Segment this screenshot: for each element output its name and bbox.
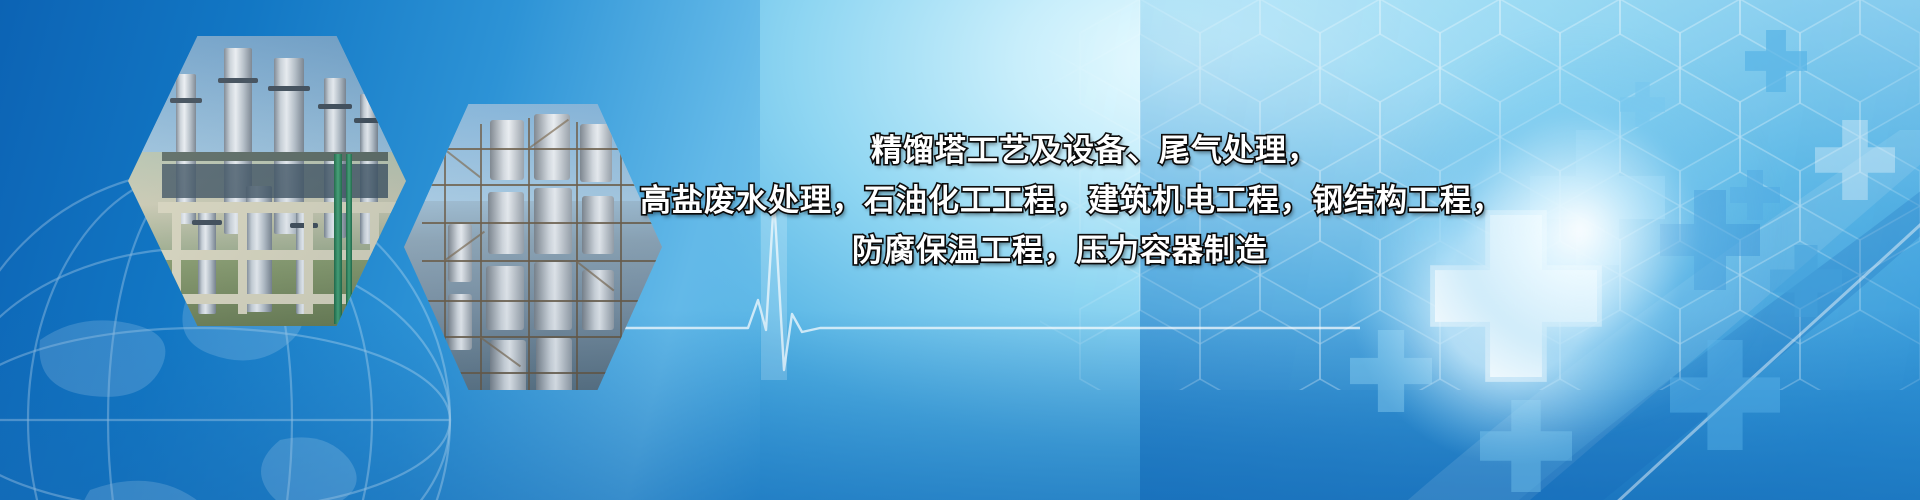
headline-line-2: 高盐废水处理，石油化工工程，建筑机电工程，钢结构工程， xyxy=(640,176,1440,226)
headline-line-1: 精馏塔工艺及设备、尾气处理， xyxy=(640,126,1440,176)
headline-line-3: 防腐保温工程，压力容器制造 xyxy=(640,226,1440,276)
hero-banner: 精馏塔工艺及设备、尾气处理， 高盐废水处理，石油化工工程，建筑机电工程，钢结构工… xyxy=(0,0,1920,500)
headline-copy: 精馏塔工艺及设备、尾气处理， 高盐废水处理，石油化工工程，建筑机电工程，钢结构工… xyxy=(640,126,1440,276)
